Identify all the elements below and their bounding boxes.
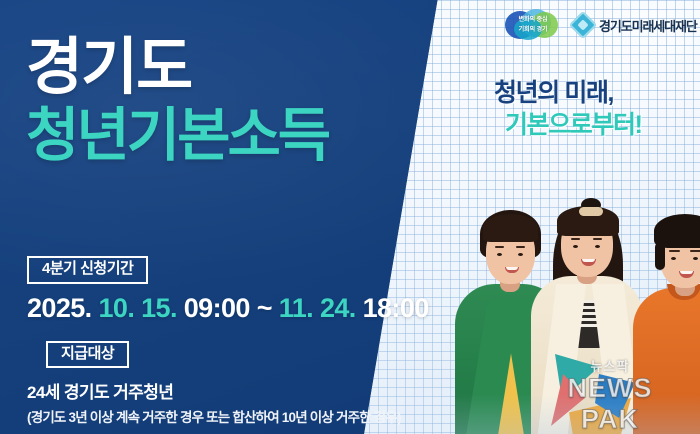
gyeonggi-slogan-line1: 변화의 중심 — [509, 15, 557, 25]
teeth — [680, 271, 693, 274]
mouth — [679, 271, 694, 278]
right-slogan-line1: 청년의 미래, — [494, 80, 642, 106]
date-end: 11. 24. — [279, 293, 356, 323]
teeth — [582, 259, 595, 262]
info-block: 4분기 신청기간 2025. 10. 15. 09:00 ~ 11. 24. 1… — [27, 256, 429, 426]
diamond-mark-icon — [569, 11, 597, 39]
eye-left — [497, 253, 502, 256]
mouth — [505, 267, 519, 273]
headline-line1: 경기도 — [26, 38, 328, 99]
date-start: 10. 15. — [98, 293, 176, 323]
eye-right — [595, 245, 600, 248]
gyeonggi-slogan-text: 변화의 중심 기회의 경기 — [509, 15, 557, 34]
gyeonggi-slogan-line2: 기회의 경기 — [509, 25, 557, 35]
tshirt-graphic — [551, 348, 637, 434]
eye-left — [573, 245, 578, 248]
eyebrow-left — [495, 246, 504, 248]
foundation-logo: 경기도미래세대재단 — [573, 15, 697, 35]
right-slogan: 청년의 미래, 기본으로부터! — [494, 80, 642, 139]
eyebrow-left — [669, 250, 680, 252]
eye-right — [518, 253, 523, 256]
hair-top — [483, 214, 538, 242]
date-year: 2025. — [27, 293, 92, 323]
foundation-name: 경기도미래세대재단 — [599, 16, 697, 35]
eye-right — [693, 257, 698, 260]
badge-application-period: 4분기 신청기간 — [27, 256, 148, 284]
hair-scrunchie — [579, 207, 603, 216]
gyeonggi-slogan-logo: 변화의 중심 기회의 경기 — [505, 9, 559, 41]
time-start: 09:00 ~ — [184, 293, 272, 323]
mouth — [581, 259, 596, 266]
eyebrow-right — [690, 250, 700, 252]
torso — [633, 288, 700, 434]
headline-line2: 청년기본소득 — [26, 107, 328, 165]
target-main-text: 24세 경기도 거주청년 — [27, 378, 429, 403]
eyebrow-left — [571, 238, 580, 240]
target-sub-text: (경기도 3년 이상 계속 거주한 경우 또는 합산하여 10년 이상 거주한 … — [27, 406, 429, 426]
badge-payment-target: 지급대상 — [46, 341, 129, 369]
badge-target-wrap: 지급대상 — [46, 341, 429, 369]
logo-bar: 변화의 중심 기회의 경기 경기도미래세대재단 — [505, 9, 697, 41]
eye-left — [671, 257, 676, 260]
application-period-date: 2025. 10. 15. 09:00 ~ 11. 24. 18:00 — [27, 293, 429, 324]
people-photo — [455, 150, 700, 434]
poster-banner: 변화의 중심 기회의 경기 경기도미래세대재단 경기도 청년기본소득 청년의 미… — [0, 0, 700, 434]
right-slogan-line2: 기본으로부터! — [505, 112, 642, 138]
teeth — [506, 267, 518, 270]
eyebrow-right — [516, 246, 525, 248]
headline: 경기도 청년기본소득 — [26, 38, 328, 165]
hair-top — [654, 214, 700, 248]
eyebrow-right — [593, 238, 602, 240]
time-end: 18:00 — [363, 293, 429, 323]
